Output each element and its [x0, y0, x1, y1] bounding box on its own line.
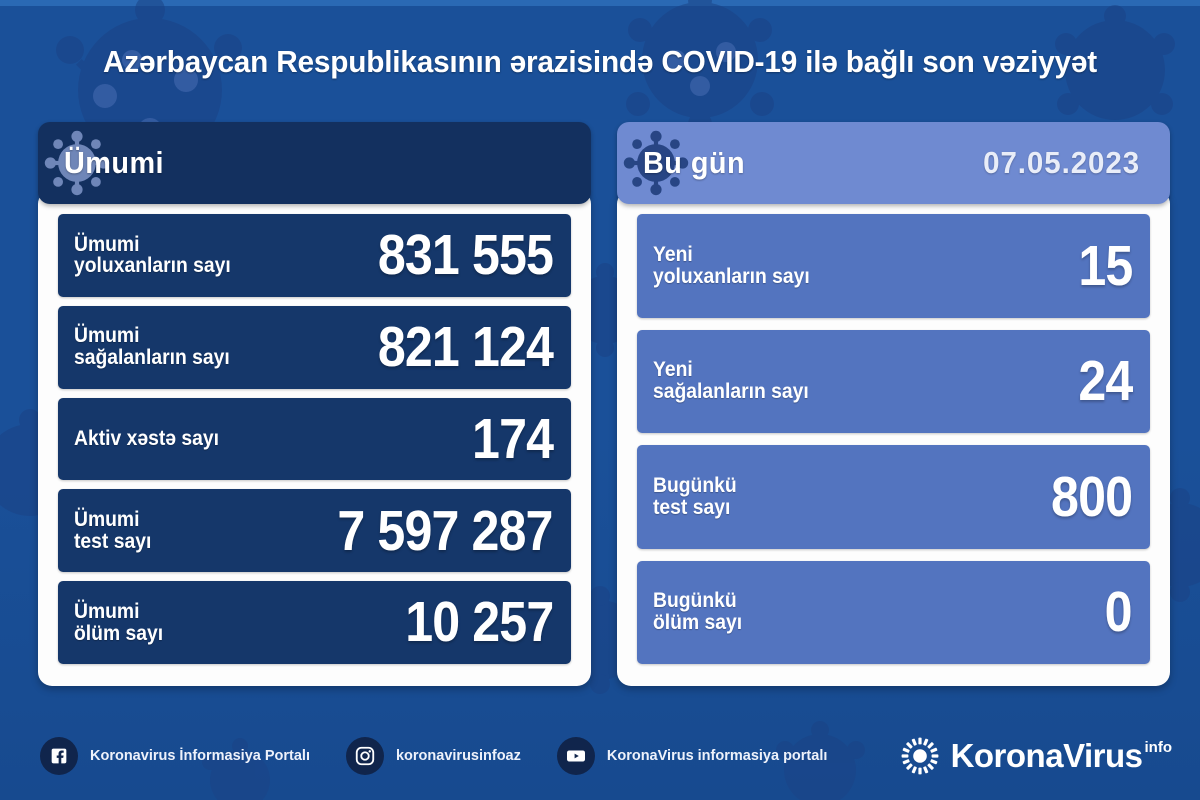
stat-row-new-recovered: Yeni sağalanların sayı 24 [637, 330, 1150, 434]
stat-value: 15 [1078, 240, 1132, 292]
stat-row-today-deaths: Bugünkü ölüm sayı 0 [637, 561, 1150, 665]
stat-label: Yeni sağalanların sayı [653, 359, 809, 403]
social-label: Koronavirus İnformasiya Portalı [90, 748, 310, 764]
facebook-icon [40, 737, 78, 775]
social-link-instagram[interactable]: koronavirusinfoaz [346, 737, 521, 775]
stat-label: Aktiv xəstə sayı [74, 428, 219, 450]
footer: Koronavirus İnformasiya Portalı koronavi… [40, 730, 1172, 782]
stat-label: Ümumi sağalanların sayı [74, 325, 230, 369]
stat-label: Ümumi ölüm sayı [74, 601, 163, 645]
total-panel-card: Ümumi yoluxanların sayı 831 555 Ümumi sa… [38, 190, 591, 686]
instagram-icon [346, 737, 384, 775]
stat-value: 7 597 287 [338, 505, 553, 557]
social-label: koronavirusinfoaz [396, 748, 521, 764]
stat-row-new-cases: Yeni yoluxanların sayı 15 [637, 214, 1150, 318]
today-panel-date: 07.05.2023 [983, 145, 1140, 181]
stat-label: Ümumi yoluxanların sayı [74, 234, 231, 278]
brand-logo[interactable]: KoronaVirus info [900, 736, 1172, 776]
brand-name: KoronaVirus [951, 737, 1143, 775]
page-title: Azərbaycan Respublikasının ərazisində CO… [24, 44, 1176, 80]
stat-label: Bugünkü test sayı [653, 475, 737, 519]
stat-row-today-tests: Bugünkü test sayı 800 [637, 445, 1150, 549]
youtube-icon [557, 737, 595, 775]
stat-label: Bugünkü ölüm sayı [653, 590, 742, 634]
today-panel-header: Bu gün 07.05.2023 [617, 122, 1170, 204]
today-panel-card: Yeni yoluxanların sayı 15 Yeni sağalanla… [617, 190, 1170, 686]
stat-value: 831 555 [378, 229, 553, 281]
stat-row-total-tests: Ümumi test sayı 7 597 287 [58, 489, 571, 572]
total-panel-title: Ümumi [64, 145, 164, 181]
social-link-youtube[interactable]: KoronaVirus informasiya portalı [557, 737, 828, 775]
total-panel-header: Ümumi [38, 122, 591, 204]
stat-label: Ümumi test sayı [74, 509, 151, 553]
stat-value: 0 [1105, 586, 1132, 638]
stat-value: 24 [1078, 355, 1132, 407]
stat-value: 174 [472, 413, 553, 465]
infographic-stage: Azərbaycan Respublikasının ərazisində CO… [0, 0, 1200, 800]
social-link-facebook[interactable]: Koronavirus İnformasiya Portalı [40, 737, 310, 775]
stat-value: 800 [1051, 471, 1132, 523]
stat-row-total-deaths: Ümumi ölüm sayı 10 257 [58, 581, 571, 664]
sun-virus-icon [900, 736, 940, 776]
today-panel: Bu gün 07.05.2023 Yeni yoluxanların sayı… [617, 122, 1170, 686]
brand-suffix: info [1145, 739, 1173, 756]
stat-row-total-cases: Ümumi yoluxanların sayı 831 555 [58, 214, 571, 297]
stat-row-active-cases: Aktiv xəstə sayı 174 [58, 398, 571, 481]
social-label: KoronaVirus informasiya portalı [607, 748, 828, 764]
stat-label: Yeni yoluxanların sayı [653, 244, 810, 288]
total-panel: Ümumi Ümumi yoluxanların sayı 831 555 Üm… [38, 122, 591, 686]
stat-row-total-recovered: Ümumi sağalanların sayı 821 124 [58, 306, 571, 389]
stat-value: 10 257 [405, 596, 553, 648]
today-panel-title: Bu gün [643, 145, 745, 181]
panels-container: Ümumi Ümumi yoluxanların sayı 831 555 Üm… [38, 122, 1170, 686]
stat-value: 821 124 [378, 321, 553, 373]
